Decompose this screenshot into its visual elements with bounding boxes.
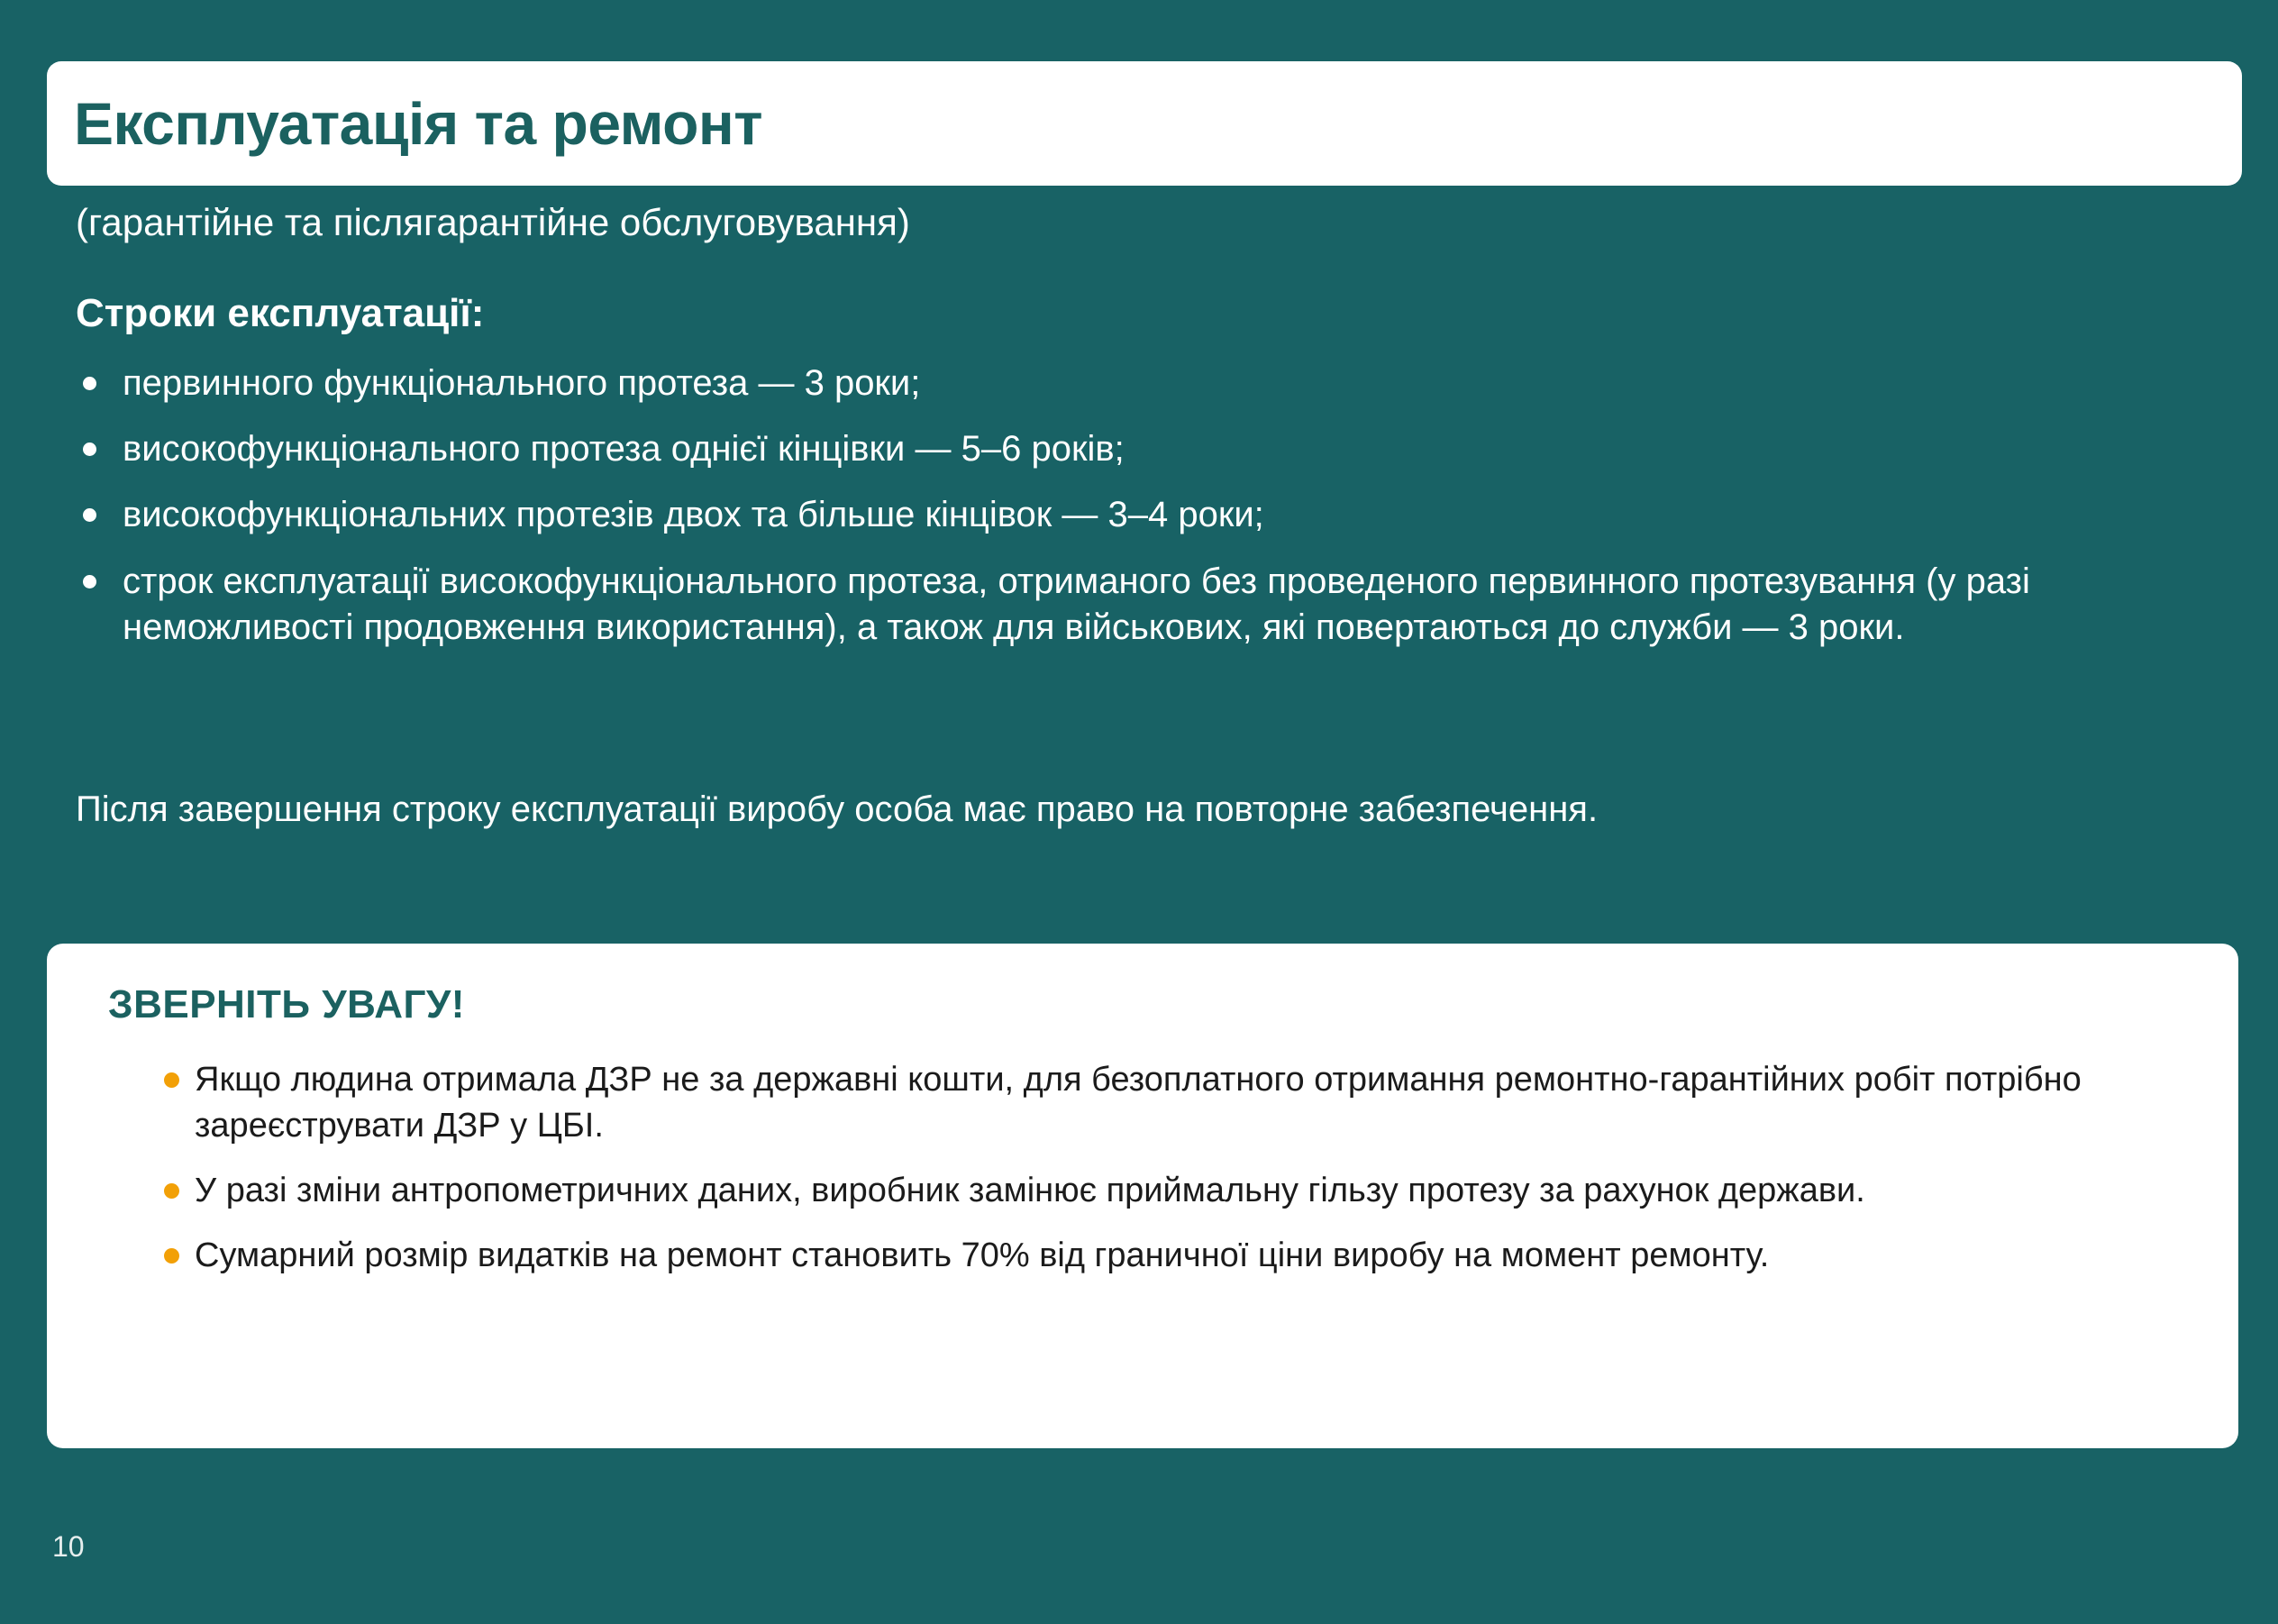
list-item: строк експлуатації високофункціонального… [76, 559, 2184, 651]
page-number: 10 [52, 1532, 85, 1561]
list-item-text: Якщо людина отримала ДЗР не за державні … [195, 1061, 2082, 1144]
list-item-text: високофункціональних протезів двох та бі… [123, 495, 1264, 534]
list-item-text: первинного функціонального протеза — 3 р… [123, 363, 920, 403]
bullet-dot-icon [83, 575, 96, 588]
list-item: Сумарний розмір видатків на ремонт стано… [164, 1233, 2195, 1278]
bullet-dot-icon [164, 1072, 179, 1088]
bullet-dot-icon [83, 377, 96, 390]
bullet-dot-icon [164, 1248, 179, 1264]
list-item: первинного функціонального протеза — 3 р… [76, 360, 2184, 406]
bullet-dot-icon [83, 442, 96, 456]
list-item: Якщо людина отримала ДЗР не за державні … [164, 1057, 2195, 1147]
list-item-text: строк експлуатації високофункціонального… [123, 561, 2030, 647]
attention-card: ЗВЕРНІТЬ УВАГУ! Якщо людина отримала ДЗР… [47, 944, 2238, 1448]
slide-subtitle: (гарантійне та післягарантійне обслугову… [76, 200, 910, 245]
attention-list: Якщо людина отримала ДЗР не за державні … [108, 1057, 2195, 1278]
service-terms-list: первинного функціонального протеза — 3 р… [76, 360, 2184, 651]
list-item: високофункціонального протеза однієї кін… [76, 426, 2184, 472]
closing-paragraph: Після завершення строку експлуатації вир… [76, 787, 2040, 833]
list-item: високофункціональних протезів двох та бі… [76, 492, 2184, 538]
list-item: У разі зміни антропометричних даних, вир… [164, 1168, 2195, 1213]
slide-title-card: Експлуатація та ремонт [47, 61, 2242, 186]
list-item-text: У разі зміни антропометричних даних, вир… [195, 1172, 1865, 1209]
list-item-text: Сумарний розмір видатків на ремонт стано… [195, 1236, 1769, 1274]
bullet-dot-icon [164, 1183, 179, 1199]
bullet-dot-icon [83, 508, 96, 522]
section-heading: Строки експлуатації: [76, 290, 484, 338]
list-item-text: високофункціонального протеза однієї кін… [123, 429, 1125, 469]
page-title: Експлуатація та ремонт [74, 94, 762, 153]
attention-heading: ЗВЕРНІТЬ УВАГУ! [108, 983, 2195, 1026]
